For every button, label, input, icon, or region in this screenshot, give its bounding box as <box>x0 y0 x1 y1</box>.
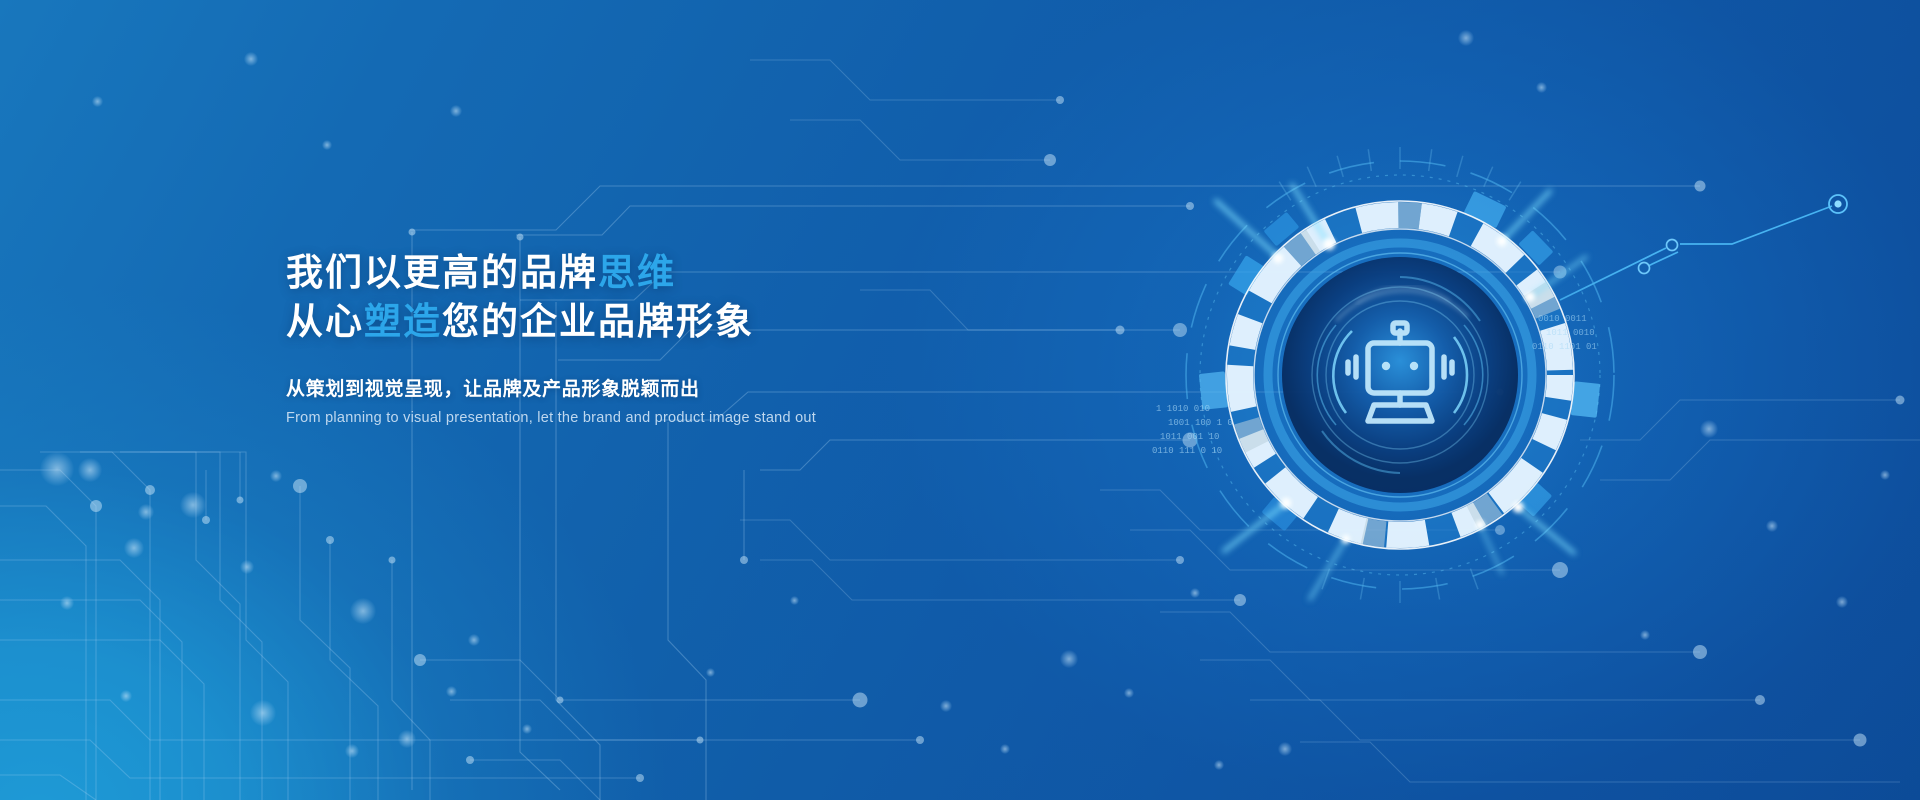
headline-line2-accent: 塑造 <box>364 301 442 342</box>
hero-copy: 我们以更高的品牌思维 从心塑造您的企业品牌形象 从策划到视觉呈现，让品牌及产品形… <box>286 248 1106 426</box>
subtitle-english: From planning to visual presentation, le… <box>286 410 1106 426</box>
headline-line-2: 从心塑造您的企业品牌形象 <box>286 297 1106 346</box>
headline-line1-text: 我们以更高的品牌 <box>286 252 598 293</box>
svg-text:0010 0011: 0010 0011 <box>1538 314 1587 324</box>
svg-text:1011 001 10: 1011 001 10 <box>1160 432 1219 442</box>
headline-line2-post: 您的企业品牌形象 <box>442 301 754 342</box>
hero-banner: 1 1010 010 1001 100 1 0 1011 001 10 0110… <box>0 0 1920 800</box>
subtitle-chinese: 从策划到视觉呈现，让品牌及产品形象脱颖而出 <box>286 374 1106 401</box>
headline-line2-pre: 从心 <box>286 301 364 342</box>
svg-text:1 1010 010: 1 1010 010 <box>1156 404 1210 414</box>
svg-text:0110 111 0 10: 0110 111 0 10 <box>1152 446 1222 456</box>
connector-line <box>1620 180 1920 320</box>
tech-circle-graphic: 1 1010 010 1001 100 1 0 1011 001 10 0110… <box>1150 125 1650 625</box>
headline-line1-accent: 思维 <box>598 252 676 293</box>
svg-text:1011 0010: 1011 0010 <box>1546 328 1595 338</box>
svg-text:1001 100 1 0: 1001 100 1 0 <box>1168 418 1233 428</box>
svg-text:0110 1101 01: 0110 1101 01 <box>1532 342 1597 352</box>
headline-line-1: 我们以更高的品牌思维 <box>286 248 1106 297</box>
